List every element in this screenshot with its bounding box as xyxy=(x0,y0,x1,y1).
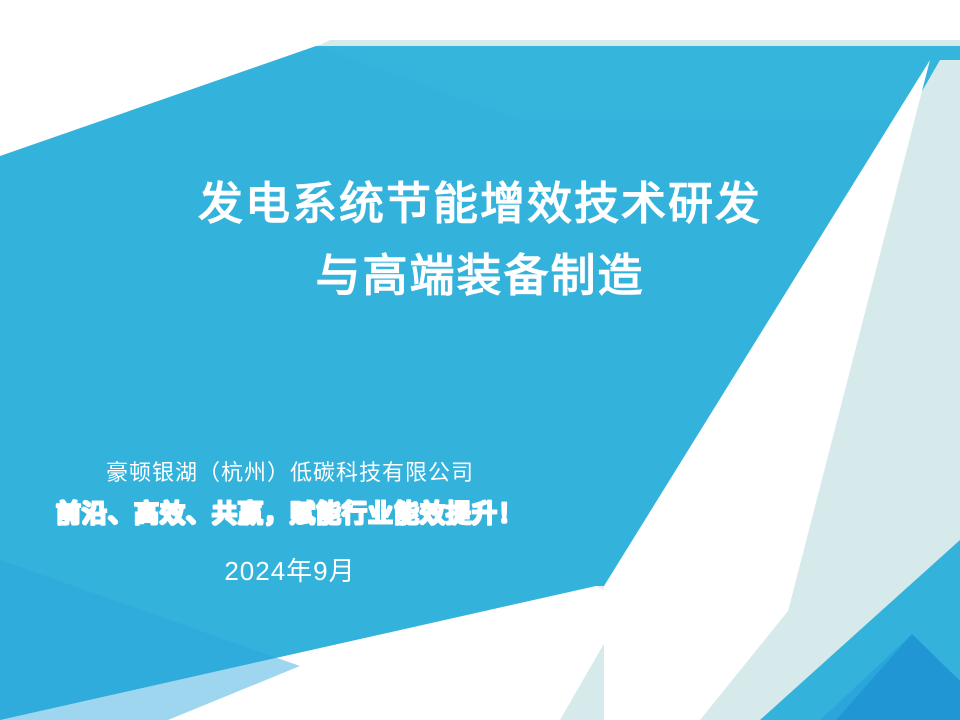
company-slogan: 前沿、高效、共赢，赋能行业能效提升！ xyxy=(0,491,580,537)
title-line-1: 发电系统节能增效技术研发 xyxy=(0,168,960,240)
slide-background-graphic xyxy=(0,0,960,720)
slide-title: 发电系统节能增效技术研发 与高端装备制造 xyxy=(0,168,960,312)
title-slide: 发电系统节能增效技术研发 与高端装备制造 豪顿银湖（杭州）低碳科技有限公司 前沿… xyxy=(0,0,960,720)
company-name: 豪顿银湖（杭州）低碳科技有限公司 xyxy=(0,455,580,491)
slide-date: 2024年9月 xyxy=(0,549,580,593)
title-line-2: 与高端装备制造 xyxy=(0,240,960,312)
slide-footer: 豪顿银湖（杭州）低碳科技有限公司 前沿、高效、共赢，赋能行业能效提升！ 2024… xyxy=(0,455,580,593)
